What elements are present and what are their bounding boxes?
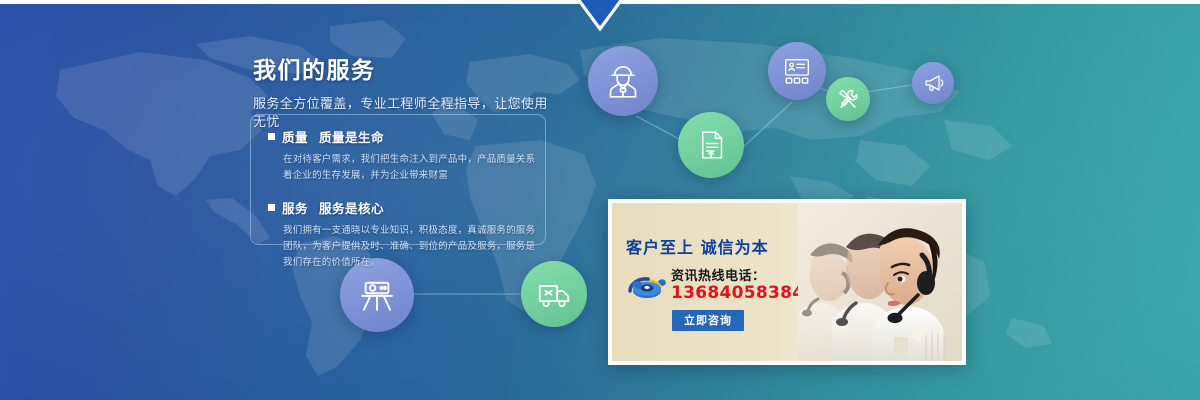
square-bullet-icon [268, 133, 275, 140]
engineer-icon [603, 61, 643, 101]
bullet-heading: 服务是核心 [319, 198, 384, 217]
megaphone-icon [921, 71, 945, 95]
list-item: 质量 质量是生命 在对待客户需求，我们把生命注入到产品中，产品质量关系着企业的生… [268, 127, 540, 185]
promo-text-side: 客户至上 诚信为本 资讯热线电话： 13684058384 [612, 203, 814, 361]
bullet-heading-row: 服务 服务是核心 [268, 198, 540, 217]
telephone-icon [622, 261, 668, 301]
promo-contact-banner[interactable]: 客户至上 诚信为本 资讯热线电话： 13684058384 [608, 199, 966, 365]
service-hero-banner: 我们的服务 服务全方位覆盖，专业工程师全程指导，让您使用无忧 质量 质量是生命 … [0, 0, 1200, 400]
promo-slogan: 客户至上 诚信为本 [626, 234, 769, 258]
call-center-agents-photo [798, 203, 962, 361]
hotline-label: 资讯热线电话： [671, 265, 766, 284]
bullet-tag: 质量 [282, 127, 308, 146]
bullet-heading: 质量是生命 [319, 127, 384, 146]
promo-inner: 客户至上 诚信为本 资讯热线电话： 13684058384 [612, 203, 962, 361]
tools-icon-node[interactable] [826, 77, 870, 121]
document-upload-icon-node[interactable] [678, 112, 744, 178]
page-title: 我们的服务 [253, 57, 553, 86]
bullet-tag: 服务 [282, 198, 308, 217]
square-bullet-icon [268, 204, 275, 211]
bullets-list: 质量 质量是生命 在对待客户需求，我们把生命注入到产品中，产品质量关系着企业的生… [268, 127, 540, 272]
delivery-truck-icon [535, 275, 573, 313]
hotline-number: 13684058384 [671, 283, 804, 303]
engineer-icon-node[interactable] [588, 46, 658, 116]
chevron-down-notch [576, 0, 624, 31]
tools-icon [835, 86, 861, 112]
bullet-body: 我们拥有一支通晓以专业知识，积极态度，真诚服务的服务团队，为客户提供及时、准确、… [283, 223, 540, 272]
training-board-icon-node[interactable] [768, 42, 826, 100]
megaphone-icon-node[interactable] [912, 62, 954, 104]
bullet-heading-row: 质量 质量是生命 [268, 127, 540, 146]
training-board-icon [781, 55, 813, 87]
list-item: 服务 服务是核心 我们拥有一支通晓以专业知识，积极态度，真诚服务的服务团队，为客… [268, 198, 540, 272]
service-text-column: 我们的服务 服务全方位覆盖，专业工程师全程指导，让您使用无忧 [253, 57, 553, 132]
bullet-body: 在对待客户需求，我们把生命注入到产品中，产品质量关系着企业的生存发展，并为企业带… [283, 152, 540, 185]
survey-tripod-icon [356, 274, 398, 316]
consult-now-button[interactable]: 立即咨询 [672, 310, 744, 331]
document-upload-icon [693, 127, 729, 163]
